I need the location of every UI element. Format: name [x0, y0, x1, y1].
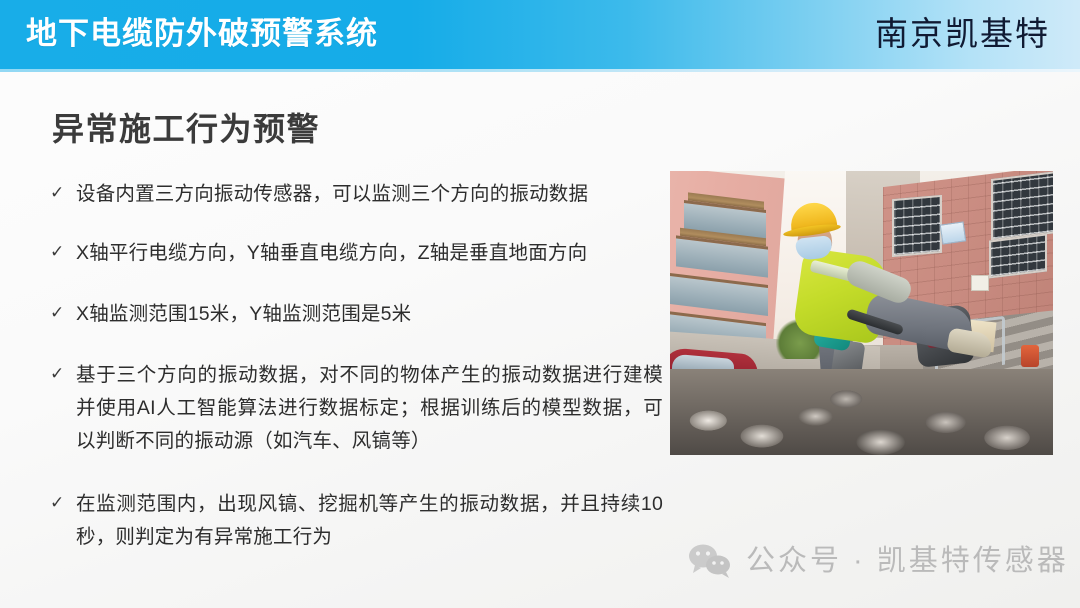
list-item: ✓ 设备内置三方向振动传感器，可以监测三个方向的振动数据 — [48, 178, 663, 211]
brand-name: 南京凯基特 — [875, 12, 1050, 56]
photo-wall-notice — [971, 275, 989, 291]
checkmark-icon: ✓ — [48, 298, 76, 328]
photo-window-grille — [991, 171, 1053, 241]
checkmark-icon: ✓ — [48, 178, 76, 208]
watermark-text: 公众号 · 凯基特传感器 — [746, 544, 1069, 578]
list-item-text: 基于三个方向的振动数据，对不同的物体产生的振动数据进行建模并使用AI人工智能算法… — [76, 359, 663, 458]
checkmark-icon: ✓ — [48, 488, 76, 518]
list-item-text: X轴监测范围15米，Y轴监测范围是5米 — [76, 298, 663, 331]
checkmark-icon: ✓ — [48, 359, 76, 389]
photo-bucket — [1021, 345, 1039, 367]
watermark: 公众号 · 凯基特传感器 — [688, 543, 1069, 579]
construction-photo-content — [670, 171, 1053, 455]
list-item: ✓ 基于三个方向的振动数据，对不同的物体产生的振动数据进行建模并使用AI人工智能… — [48, 359, 663, 458]
list-item: ✓ 在监测范围内，出现风镐、挖掘机等产生的振动数据，并且持续10秒，则判定为有异… — [48, 488, 663, 554]
construction-photo — [670, 171, 1053, 455]
header-underline — [0, 69, 1080, 72]
list-item-text: X轴平行电缆方向，Y轴垂直电缆方向，Z轴是垂直地面方向 — [76, 237, 663, 270]
slide-canvas: 地下电缆防外破预警系统 南京凯基特 异常施工行为预警 ✓ 设备内置三方向振动传感… — [0, 0, 1080, 608]
bullet-list: ✓ 设备内置三方向振动传感器，可以监测三个方向的振动数据 ✓ X轴平行电缆方向，… — [48, 178, 663, 554]
photo-wall-sign — [940, 221, 967, 244]
list-item-text: 在监测范围内，出现风镐、挖掘机等产生的振动数据，并且持续10秒，则判定为有异常施… — [76, 488, 663, 554]
system-title: 地下电缆防外破预警系统 — [26, 14, 378, 54]
photo-window-grille — [892, 195, 942, 257]
checkmark-icon: ✓ — [48, 237, 76, 267]
list-item: ✓ X轴平行电缆方向，Y轴垂直电缆方向，Z轴是垂直地面方向 — [48, 237, 663, 270]
photo-broken-pavement — [670, 369, 1053, 455]
wechat-icon — [688, 543, 732, 579]
list-item-text: 设备内置三方向振动传感器，可以监测三个方向的振动数据 — [76, 178, 663, 211]
list-item: ✓ X轴监测范围15米，Y轴监测范围是5米 — [48, 298, 663, 331]
page-title: 异常施工行为预警 — [52, 104, 320, 150]
photo-window-grille — [989, 233, 1047, 278]
